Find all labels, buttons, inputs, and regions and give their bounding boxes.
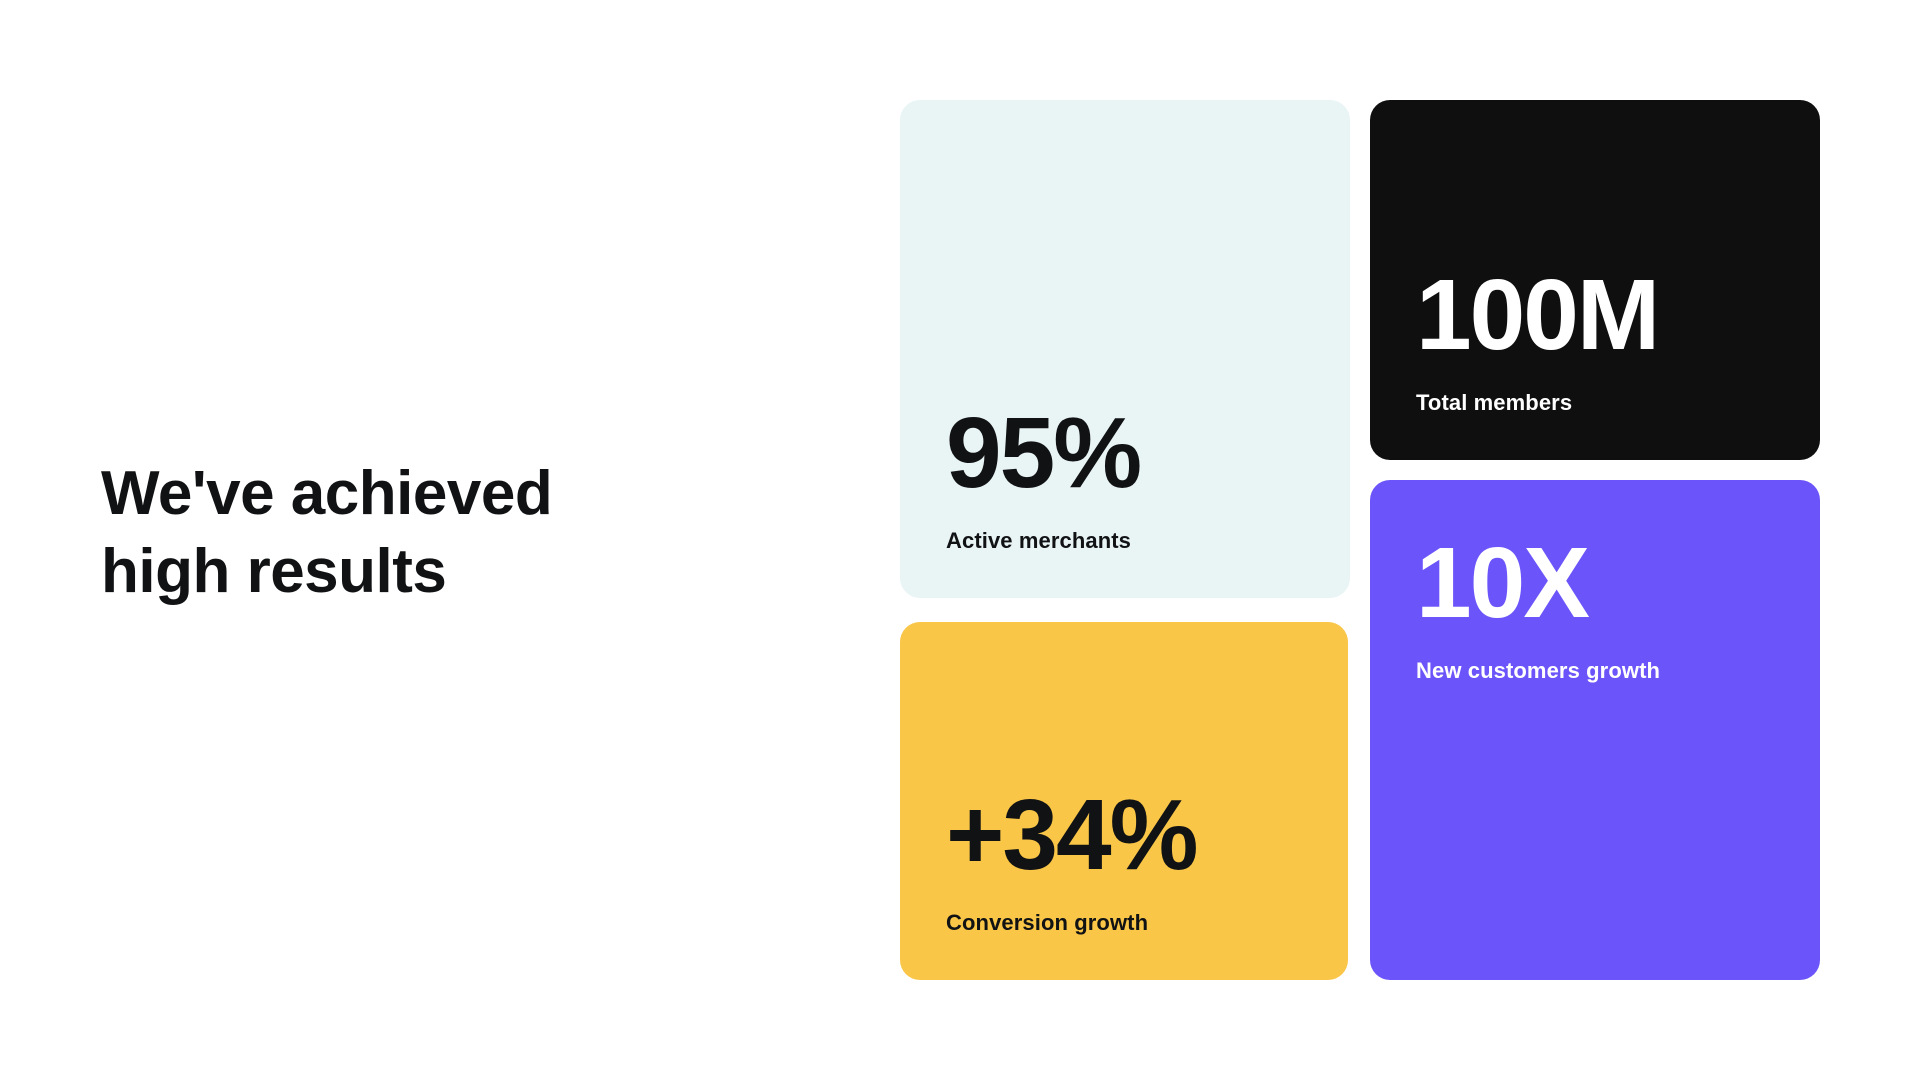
heading-block: We've achieved high results bbox=[101, 455, 721, 611]
stat-card-new-customers-growth: 10X New customers growth bbox=[1370, 480, 1820, 980]
stat-value-total-members: 100M bbox=[1416, 264, 1774, 366]
stat-card-active-merchants: 95% Active merchants bbox=[900, 100, 1350, 598]
stats-card-grid: 95% Active merchants 100M Total members … bbox=[900, 100, 1820, 980]
stat-card-conversion-growth: +34% Conversion growth bbox=[900, 622, 1348, 980]
page-title: We've achieved high results bbox=[101, 455, 721, 611]
stat-label-total-members: Total members bbox=[1416, 390, 1774, 416]
stat-label-new-customers-growth: New customers growth bbox=[1416, 658, 1774, 684]
stat-value-new-customers-growth: 10X bbox=[1416, 532, 1774, 634]
stats-section: We've achieved high results 95% Active m… bbox=[0, 0, 1920, 1080]
stat-card-total-members: 100M Total members bbox=[1370, 100, 1820, 460]
stat-value-conversion-growth: +34% bbox=[946, 784, 1302, 886]
stat-value-active-merchants: 95% bbox=[946, 402, 1304, 504]
stat-label-active-merchants: Active merchants bbox=[946, 528, 1304, 554]
stat-label-conversion-growth: Conversion growth bbox=[946, 910, 1302, 936]
